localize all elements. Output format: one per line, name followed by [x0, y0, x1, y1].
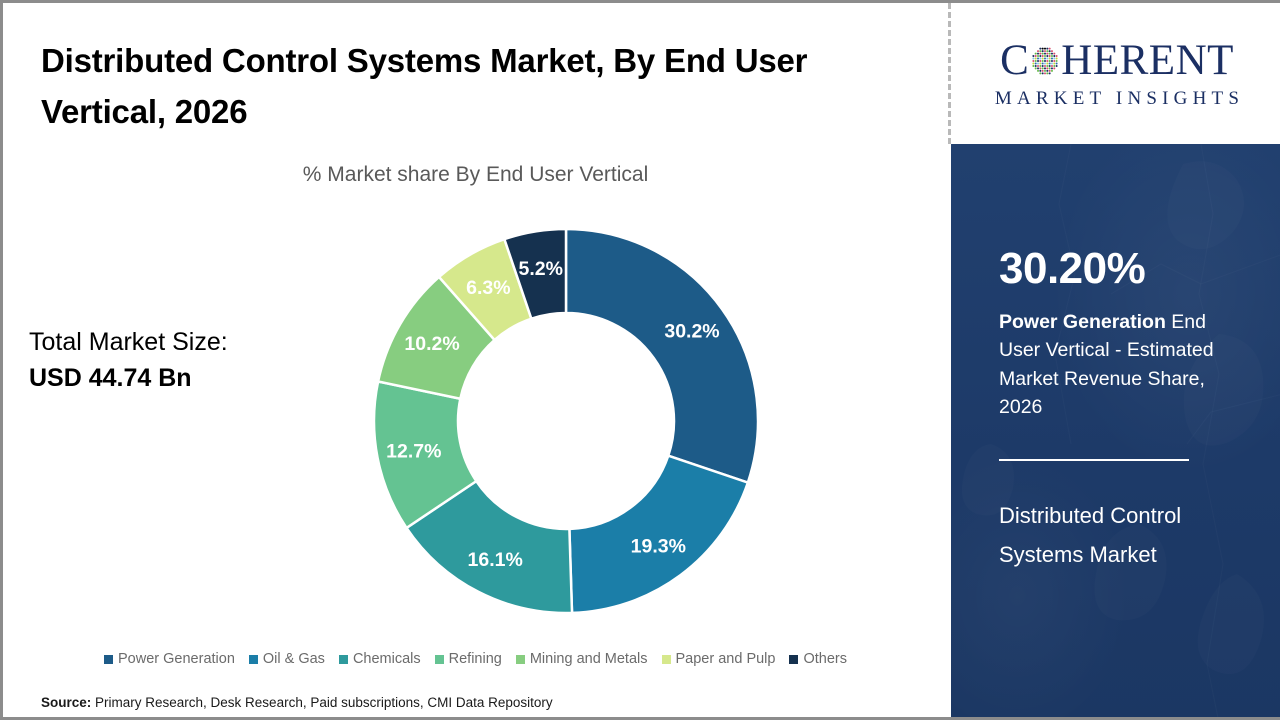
total-market-label: Total Market Size:	[29, 325, 329, 361]
globe-dot	[1047, 50, 1049, 52]
globe-dot	[1040, 60, 1042, 62]
legend-item-label: Paper and Pulp	[676, 651, 776, 667]
globe-dot	[1049, 50, 1051, 52]
sidebar-report-name: Distributed Control Systems Market	[999, 496, 1249, 574]
globe-dot	[1040, 65, 1042, 67]
globe-dot	[1037, 55, 1039, 57]
chart-subtitle: % Market share By End User Vertical	[3, 163, 948, 187]
globe-dot	[1044, 58, 1046, 60]
globe-dot	[1049, 62, 1051, 64]
globe-dot	[1042, 55, 1044, 57]
globe-dot	[1051, 62, 1053, 64]
globe-dot	[1042, 60, 1044, 62]
globe-dot	[1047, 48, 1049, 50]
globe-dot	[1054, 65, 1056, 67]
donut-slice-label: 30.2%	[664, 321, 719, 343]
globe-dot	[1051, 65, 1053, 67]
sidebar-body: 30.20% Power Generation End User Vertica…	[951, 144, 1280, 720]
total-market-size: Total Market Size: USD 44.74 Bn	[29, 325, 329, 396]
globe-dot	[1037, 67, 1039, 69]
globe-dot	[1054, 62, 1056, 64]
globe-dot	[1047, 72, 1049, 74]
legend-item[interactable]: Paper and Pulp	[662, 651, 776, 667]
globe-dot	[1035, 65, 1037, 67]
globe-dot	[1051, 67, 1053, 69]
chart-panel: Distributed Control Systems Market, By E…	[3, 3, 948, 720]
legend-swatch-icon	[435, 655, 444, 664]
globe-dot	[1047, 62, 1049, 64]
globe-dot	[1044, 72, 1046, 74]
donut-slice	[566, 229, 758, 483]
logo-word-before: C	[1000, 39, 1029, 82]
globe-dot	[1047, 65, 1049, 67]
globe-dot	[1042, 70, 1044, 72]
globe-dot	[1040, 62, 1042, 64]
globe-dot	[1056, 65, 1058, 67]
globe-dot	[1044, 48, 1046, 50]
globe-dot	[1035, 58, 1037, 60]
globe-dot	[1044, 50, 1046, 52]
globe-dot	[1033, 60, 1035, 62]
legend-swatch-icon	[516, 655, 525, 664]
sidebar: C HERENT MARKET INSIGHTS	[951, 3, 1280, 720]
logo-wordmark: C HERENT	[1000, 37, 1234, 83]
globe-dot	[1037, 60, 1039, 62]
source-note: Source: Primary Research, Desk Research,…	[41, 695, 553, 710]
globe-dot	[1033, 65, 1035, 67]
donut-slice-group	[374, 229, 758, 613]
globe-dot	[1051, 58, 1053, 60]
globe-dot	[1044, 60, 1046, 62]
legend-item-label: Others	[803, 651, 847, 667]
globe-dot	[1047, 58, 1049, 60]
globe-dot	[1040, 48, 1042, 50]
globe-dot	[1042, 58, 1044, 60]
legend-swatch-icon	[662, 655, 671, 664]
legend-item[interactable]: Oil & Gas	[249, 651, 325, 667]
globe-dot	[1035, 60, 1037, 62]
legend-item-label: Power Generation	[118, 651, 235, 667]
donut-chart-svg: 30.2%19.3%16.1%12.7%10.2%6.3%5.2%	[366, 221, 766, 621]
brand-logo: C HERENT MARKET INSIGHTS	[951, 3, 1280, 144]
logo-subtitle: MARKET INSIGHTS	[990, 88, 1244, 110]
globe-dot	[1033, 62, 1035, 64]
globe-dot	[1037, 53, 1039, 55]
source-label: Source:	[41, 695, 91, 710]
legend-swatch-icon	[339, 655, 348, 664]
legend-item[interactable]: Chemicals	[339, 651, 421, 667]
globe-dot	[1037, 58, 1039, 60]
globe-dot	[1044, 67, 1046, 69]
globe-dot	[1035, 67, 1037, 69]
globe-dot	[1042, 65, 1044, 67]
stat-value: 30.20%	[999, 247, 1145, 291]
globe-dot	[1040, 55, 1042, 57]
donut-slice-label: 10.2%	[404, 333, 459, 355]
donut-slice-label: 5.2%	[519, 258, 563, 280]
globe-dot	[1044, 65, 1046, 67]
legend-item-label: Oil & Gas	[263, 651, 325, 667]
donut-slice-label: 6.3%	[466, 277, 510, 299]
globe-dot	[1042, 62, 1044, 64]
legend-item[interactable]: Refining	[435, 651, 502, 667]
globe-dot	[1040, 58, 1042, 60]
globe-dot	[1054, 53, 1056, 55]
legend-item-label: Mining and Metals	[530, 651, 648, 667]
globe-dot	[1056, 62, 1058, 64]
infographic-canvas: Distributed Control Systems Market, By E…	[0, 0, 1280, 720]
globe-dot	[1047, 55, 1049, 57]
globe-dot	[1054, 58, 1056, 60]
page-title: Distributed Control Systems Market, By E…	[41, 35, 921, 137]
globe-dot	[1049, 53, 1051, 55]
globe-dot	[1035, 55, 1037, 57]
globe-dot	[1056, 60, 1058, 62]
source-text: Primary Research, Desk Research, Paid su…	[91, 695, 552, 710]
globe-dot	[1049, 72, 1051, 74]
globe-dot	[1044, 53, 1046, 55]
total-market-value: USD 44.74 Bn	[29, 361, 329, 397]
globe-dot	[1051, 50, 1053, 52]
globe-dot	[1051, 60, 1053, 62]
globe-dot	[1049, 60, 1051, 62]
globe-dot	[1049, 65, 1051, 67]
globe-dot	[1033, 55, 1035, 57]
globe-dot	[1049, 48, 1051, 50]
legend-item-label: Refining	[449, 651, 502, 667]
globe-dot	[1047, 70, 1049, 72]
globe-dot	[1042, 48, 1044, 50]
globe-dot	[1035, 53, 1037, 55]
donut-slice-label: 16.1%	[468, 549, 523, 571]
globe-dot	[1044, 55, 1046, 57]
globe-dot	[1054, 60, 1056, 62]
legend-item[interactable]: Mining and Metals	[516, 651, 648, 667]
legend-item[interactable]: Others	[789, 651, 847, 667]
globe-dot	[1040, 53, 1042, 55]
legend-item-label: Chemicals	[353, 651, 421, 667]
legend-item[interactable]: Power Generation	[104, 651, 235, 667]
world-map-texture	[951, 144, 1280, 720]
globe-dot	[1047, 60, 1049, 62]
globe-dot	[1047, 67, 1049, 69]
globe-dot	[1049, 58, 1051, 60]
legend-swatch-icon	[789, 655, 798, 664]
globe-dot	[1035, 62, 1037, 64]
globe-dot	[1051, 53, 1053, 55]
globe-dot	[1044, 70, 1046, 72]
globe-dot	[1051, 55, 1053, 57]
globe-dot	[1047, 53, 1049, 55]
globe-dot	[1037, 50, 1039, 52]
globe-dot	[1051, 70, 1053, 72]
legend-swatch-icon	[249, 655, 258, 664]
donut-slice	[569, 456, 747, 613]
globe-dot	[1040, 50, 1042, 52]
globe-dot	[1056, 58, 1058, 60]
logo-word-after: HERENT	[1061, 39, 1234, 82]
sidebar-divider	[999, 459, 1189, 461]
globe-dot	[1037, 62, 1039, 64]
globe-dot	[1037, 65, 1039, 67]
globe-dot	[1042, 72, 1044, 74]
globe-dot	[1049, 55, 1051, 57]
globe-dot	[1049, 67, 1051, 69]
globe-dot	[1054, 55, 1056, 57]
legend-swatch-icon	[104, 655, 113, 664]
globe-dot	[1054, 67, 1056, 69]
dotted-globe-icon	[1030, 46, 1060, 76]
globe-dot	[1042, 50, 1044, 52]
donut-chart: 30.2%19.3%16.1%12.7%10.2%6.3%5.2%	[366, 221, 766, 621]
stat-description: Power Generation End User Vertical - Est…	[999, 308, 1249, 422]
globe-dot	[1049, 70, 1051, 72]
stat-description-highlight: Power Generation	[999, 311, 1166, 333]
donut-slice-label: 12.7%	[386, 441, 441, 463]
globe-dot	[1042, 67, 1044, 69]
globe-dot	[1033, 58, 1035, 60]
globe-dot	[1042, 53, 1044, 55]
globe-dot	[1040, 67, 1042, 69]
globe-dot	[1040, 70, 1042, 72]
donut-slice-label: 19.3%	[631, 536, 686, 558]
globe-dot	[1040, 72, 1042, 74]
globe-dot	[1037, 70, 1039, 72]
globe-dot	[1044, 62, 1046, 64]
globe-dot	[1056, 55, 1058, 57]
chart-legend: Power GenerationOil & GasChemicalsRefini…	[3, 651, 948, 667]
